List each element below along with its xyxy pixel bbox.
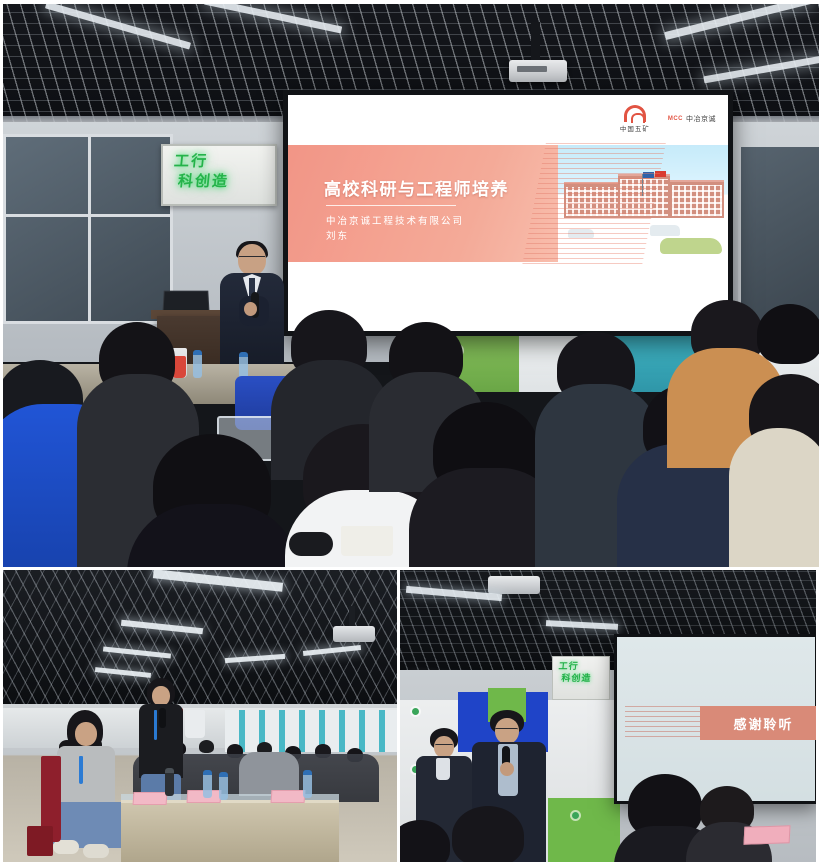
green-wall-panel [548,798,620,862]
handbag [27,826,53,856]
seated-participant [49,710,129,862]
water-bottle [219,772,228,800]
room-sign-text: 工行 科创造 [171,152,271,193]
glasses-icon [495,728,518,733]
water-bottle [193,350,202,378]
projector-icon [333,626,375,642]
water-bottle [303,770,312,798]
slide-subtitle: 中冶京诚工程技术有限公司 刘东 [326,215,464,244]
projector-icon [488,576,540,594]
locker-indicator-icon [412,708,419,715]
slide-title: 高校科研与工程师培养 [324,175,509,200]
lanyard [154,710,157,740]
mcc-abbr-label: MCC [668,116,683,122]
panel-lecture-hall-presentation: 工行 科创造 中国五矿 MCC 中冶京诚 [0,0,822,567]
room-sign-text: 工行 科创造 [557,661,609,684]
slide-content: 感谢聆听 [617,637,815,801]
lanyard [79,756,83,784]
photo-collage: 工行 科创造 中国五矿 MCC 中冶京诚 [0,0,822,866]
room-sign-line2: 科创造 [171,172,269,192]
room-sign-line1: 工行 [558,661,579,671]
speaker-shirt [436,758,450,780]
logo-china-minmetals: 中国五矿 [620,105,650,133]
headphones-icon [289,532,333,556]
room-sign-line2: 科创造 [557,673,608,685]
glasses-icon [435,744,453,748]
room-neon-sign: 工行 科创造 [161,144,277,206]
car-shape [650,225,680,236]
mcc-label: 中冶京诚 [686,114,716,124]
slide-divider [326,205,456,206]
bottom-panel-row: 工行 科创造 感谢聆听 [0,567,822,866]
shoe [53,840,79,854]
microphone-icon [159,708,166,728]
audience-head [452,806,524,862]
locker-indicator-icon [572,812,579,819]
panel-panel-discussion-qa [3,570,397,862]
glasses-icon [239,256,265,262]
thermos [165,768,174,796]
participant-face [75,722,97,746]
notebook-paper [341,526,393,556]
slide-accent-band: 感谢聆听 [700,706,816,740]
room-neon-sign: 工行 科创造 [552,656,610,700]
speaker-face [152,686,170,706]
audience-body [729,428,822,567]
name-placard [743,825,790,845]
slide-logo-group: 中国五矿 MCC 中冶京诚 [620,105,716,133]
room-sign-line1: 工行 [173,154,209,170]
name-placard [271,790,306,803]
projection-screen: 中国五矿 MCC 中冶京诚 [283,90,733,336]
water-bottle [203,770,212,798]
audience-head [757,304,822,364]
slide-thanks-text: 感谢聆听 [734,714,794,733]
shrub-shape [660,238,722,254]
building-shape [670,180,724,218]
slide-stripe-decoration [523,143,667,265]
participant-top [57,746,115,808]
panel-closing-remarks: 工行 科创造 感谢聆听 [400,570,816,862]
back-lockers [225,710,397,752]
discussion-table [121,800,339,862]
slide-presenter: 刘东 [326,231,349,242]
slide-company: 中冶京诚工程技术有限公司 [326,216,464,227]
shoe [83,844,109,858]
speaker-hand [500,762,514,776]
slide-content: 中国五矿 MCC 中冶京诚 [288,95,728,331]
wall-window-left [3,134,173,324]
minmetals-label: 中国五矿 [620,123,650,133]
minmetals-mark-icon [624,105,646,122]
name-placard [133,792,168,805]
logo-mcc-capital: MCC 中冶京诚 [668,114,716,124]
slide-stripe-decoration [625,706,704,740]
presenter-figure [217,244,287,372]
presenter-hand [244,302,257,316]
audience-head [199,740,214,753]
projector-icon [509,60,567,82]
